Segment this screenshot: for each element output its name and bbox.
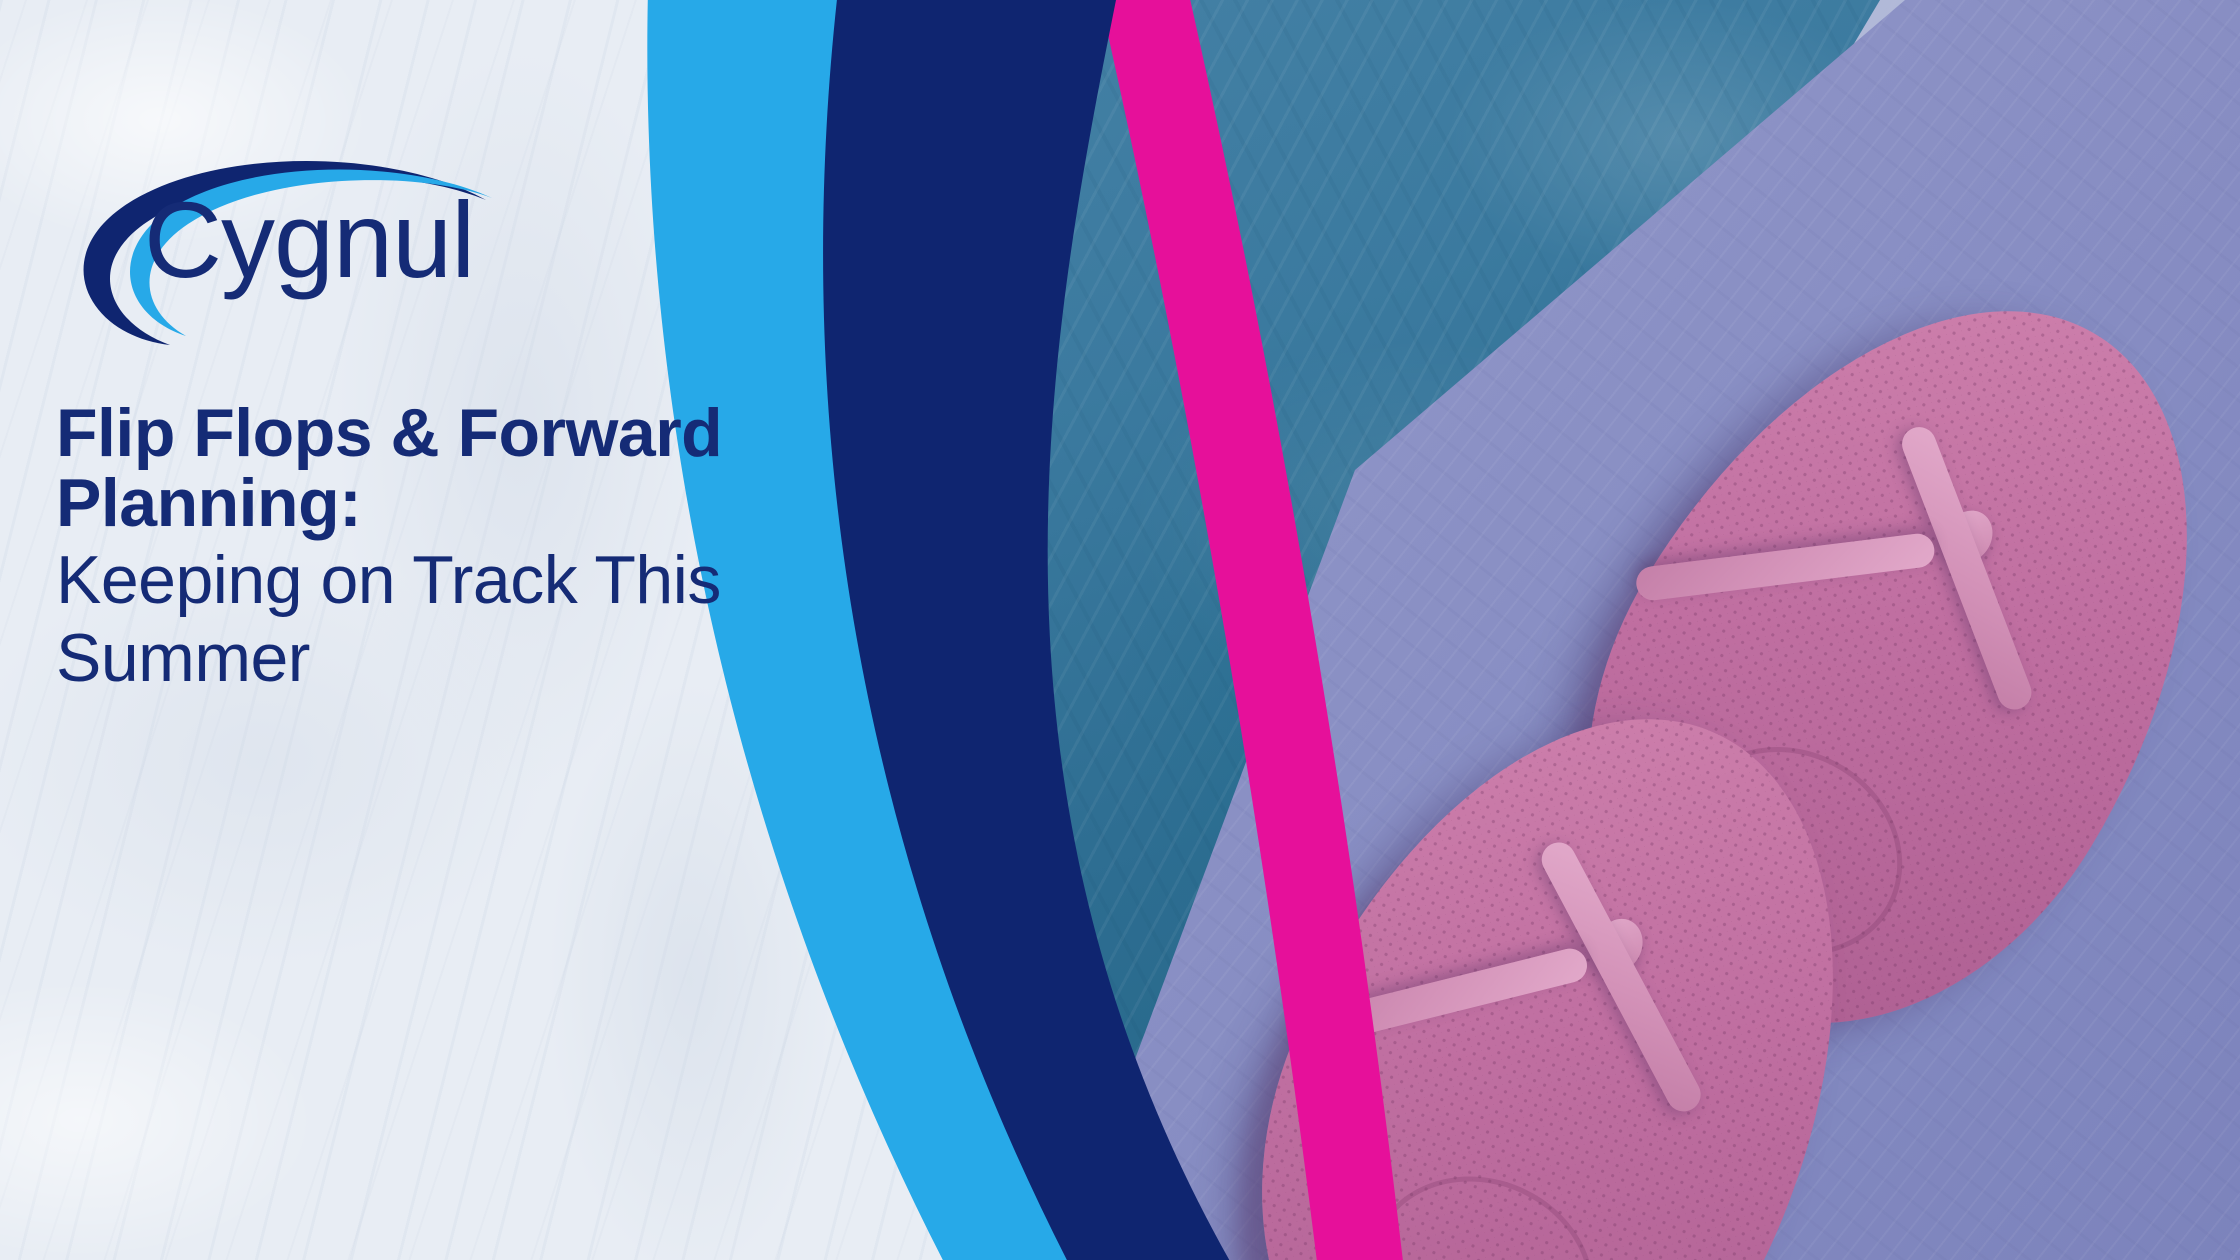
headline-bold-line-2: Planning: [56,468,816,538]
banner-canvas: Cygnul Flip Flops & Forward Planning: Ke… [0,0,2240,1260]
headline-block: Flip Flops & Forward Planning: Keeping o… [56,398,816,694]
headline-regular-line-1: Keeping on Track This [56,544,816,616]
headline-regular-line-2: Summer [56,622,816,694]
headline-bold-line-1: Flip Flops & Forward [56,398,816,468]
flip-flop-strap [1634,532,1936,602]
brand-name: Cygnul [144,186,474,294]
flip-flop-strap [1897,422,2036,714]
brand-logo[interactable]: Cygnul [62,140,522,350]
